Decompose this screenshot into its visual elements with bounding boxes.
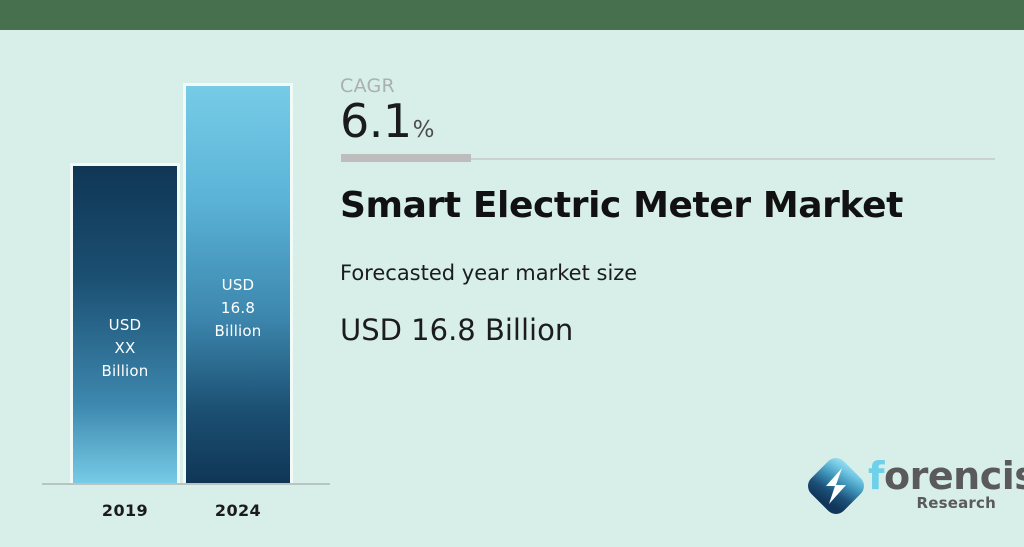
cagr-value-row: 6.1 % [340, 98, 435, 144]
forencis-brand-lead: f [868, 454, 884, 498]
bar-2024-value: 16.8 [214, 297, 261, 320]
page-title: Smart Electric Meter Market [340, 185, 903, 226]
bar-2024-scale: Billion [214, 320, 261, 343]
forencis-brand-text: forencis [868, 454, 1024, 498]
top-accent-band [0, 0, 1024, 30]
bar-2024-currency: USD [214, 274, 261, 297]
forencis-tagline: Research [916, 494, 996, 512]
bar-2024-label: USD 16.8 Billion [214, 274, 261, 343]
bar-2019-scale: Billion [101, 360, 148, 383]
infographic-canvas: USD XX Billion USD 16.8 Billion 2019 202… [0, 0, 1024, 547]
forencis-diamond-icon [802, 452, 870, 520]
cagr-unit: % [413, 117, 435, 143]
cagr-value: 6.1 [340, 98, 412, 144]
forencis-wordmark: forencis Research [868, 454, 998, 520]
bar-2019-currency: USD [101, 314, 148, 337]
panel-subtitle: Forecasted year market size [340, 261, 637, 285]
bar-2019: USD XX Billion [70, 163, 180, 483]
forencis-logo: forencis Research [800, 448, 1000, 528]
bar-2019-value: XX [101, 337, 148, 360]
divider-accent [341, 154, 471, 162]
bar-2024: USD 16.8 Billion [183, 83, 293, 483]
chart-axis-line [42, 483, 330, 485]
panel-market-size: USD 16.8 Billion [340, 313, 573, 347]
bar-2019-label: USD XX Billion [101, 314, 148, 383]
forencis-brand-rest: orencis [884, 454, 1024, 498]
axis-tick-2019: 2019 [70, 501, 180, 520]
axis-tick-2024: 2024 [183, 501, 293, 520]
bar-chart: USD XX Billion USD 16.8 Billion 2019 202… [0, 30, 340, 547]
